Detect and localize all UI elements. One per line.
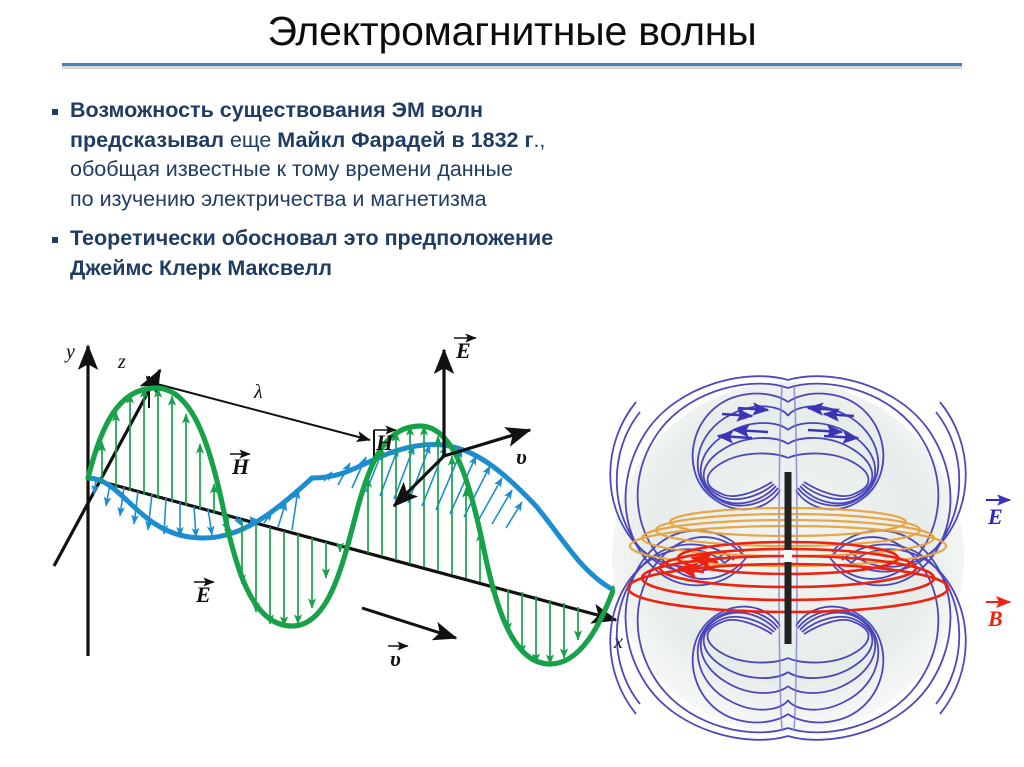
v-vector-label: υ [516, 444, 527, 469]
square-bullet-icon [52, 224, 70, 243]
y-axis-label: y [64, 341, 75, 363]
bullet-line: предсказывал еще Майкл Фарадей в 1832 г.… [70, 126, 692, 156]
list-item: Теоретически обосновал это предположение… [52, 224, 692, 283]
bullet-line: Джеймс Клерк Максвелл [70, 254, 692, 284]
bullet-list: Возможность существования ЭМ волн предск… [52, 96, 692, 285]
e-field-wave [88, 388, 614, 664]
electromagnetic-wave-figure: y z x λ [24, 326, 664, 706]
page-title: Электромагнитные волны [0, 6, 1024, 56]
bullet-line: Теоретически обосновал это предположение [70, 224, 692, 254]
z-axis-label: z [117, 351, 126, 373]
e-field-label-text: E [987, 504, 1003, 529]
propagation-velocity-label: υ [390, 646, 401, 671]
list-item-text: Теоретически обосновал это предположение… [70, 224, 692, 283]
text-run: Майкл Фарадей в 1832 г [277, 128, 533, 152]
list-item-text: Возможность существования ЭМ волн предск… [70, 96, 692, 214]
wavelength-label: λ [253, 381, 263, 403]
text-run: обобщая известные к тому времени данные [70, 157, 513, 181]
spacer [52, 216, 692, 224]
text-run: ., [533, 128, 545, 152]
text-run: предсказывал [70, 128, 230, 152]
text-run: по изучению электричества и магнетизма [70, 187, 487, 211]
b-field-label-text: B [987, 606, 1003, 631]
e-wave-label-text: E [195, 582, 211, 607]
propagation-velocity-arrow: υ [362, 608, 456, 671]
e-vector-label: E [455, 338, 471, 363]
square-bullet-icon [52, 96, 70, 115]
text-run: Возможность существования ЭМ волн [70, 98, 483, 122]
h-wave-label-text: H [231, 454, 250, 479]
dipole-radiation-figure: E B [592, 372, 1024, 752]
e-field-label: E [986, 500, 1010, 529]
text-run: Теоретически обосновал это предположение [70, 226, 553, 250]
h-vector-label: H [375, 430, 394, 455]
h-wave-label: H [230, 454, 250, 479]
bullet-line: Возможность существования ЭМ волн [70, 96, 692, 126]
list-item: Возможность существования ЭМ волн предск… [52, 96, 692, 214]
b-field-label: B [986, 602, 1010, 631]
e-wave-label: E [194, 582, 214, 607]
text-run: еще [230, 128, 277, 152]
bullet-line: по изучению электричества и магнетизма [70, 185, 692, 215]
title-divider-shadow [62, 66, 962, 69]
text-run: Джеймс Клерк Максвелл [70, 256, 332, 280]
bullet-line: обобщая известные к тому времени данные [70, 155, 692, 185]
